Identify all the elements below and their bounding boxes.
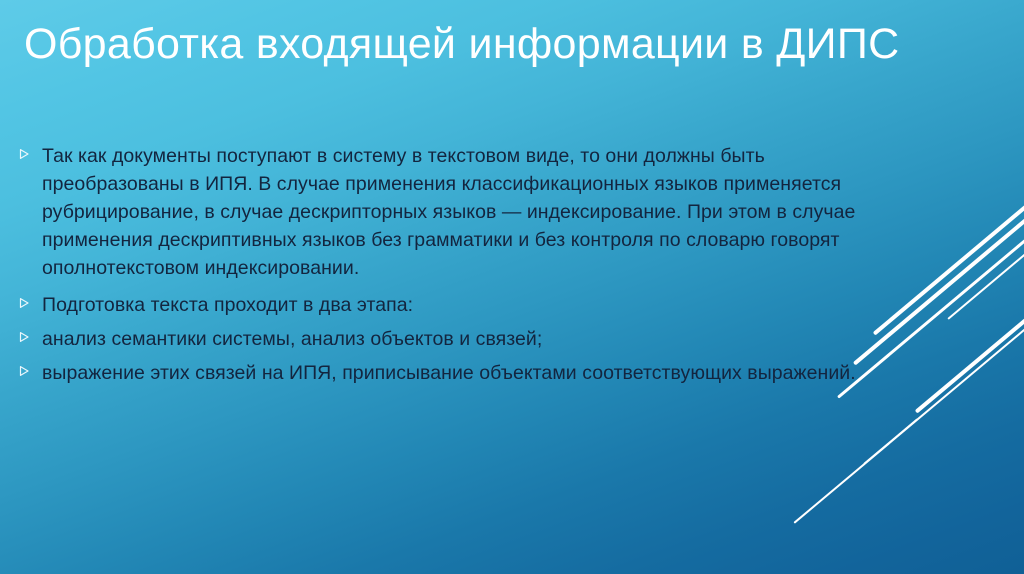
- bullet-list: Так как документы поступают в систему в …: [18, 142, 908, 396]
- list-item: Подготовка текста проходит в два этапа:: [18, 291, 908, 319]
- streak-line-4: [915, 263, 1024, 414]
- presentation-slide: Обработка входящей информации в ДИПС Так…: [0, 0, 1024, 574]
- streak-line-7: [947, 248, 1024, 320]
- streak-line-6: [863, 418, 918, 465]
- list-item-text: Так как документы поступают в систему в …: [42, 142, 908, 282]
- list-item-text: Подготовка текста проходит в два этапа:: [42, 291, 908, 319]
- list-item-text: анализ семантики системы, анализ объекто…: [42, 325, 908, 353]
- list-item-text: выражение этих связей на ИПЯ, приписыван…: [42, 359, 908, 387]
- triangle-right-outline-icon: [18, 142, 42, 160]
- list-item: выражение этих связей на ИПЯ, приписыван…: [18, 359, 908, 387]
- triangle-right-outline-icon: [18, 325, 42, 343]
- list-item: анализ семантики системы, анализ объекто…: [18, 325, 908, 353]
- triangle-right-outline-icon: [18, 359, 42, 377]
- triangle-right-outline-icon: [18, 291, 42, 309]
- slide-title: Обработка входящей информации в ДИПС: [24, 20, 984, 69]
- list-item: Так как документы поступают в систему в …: [18, 142, 908, 282]
